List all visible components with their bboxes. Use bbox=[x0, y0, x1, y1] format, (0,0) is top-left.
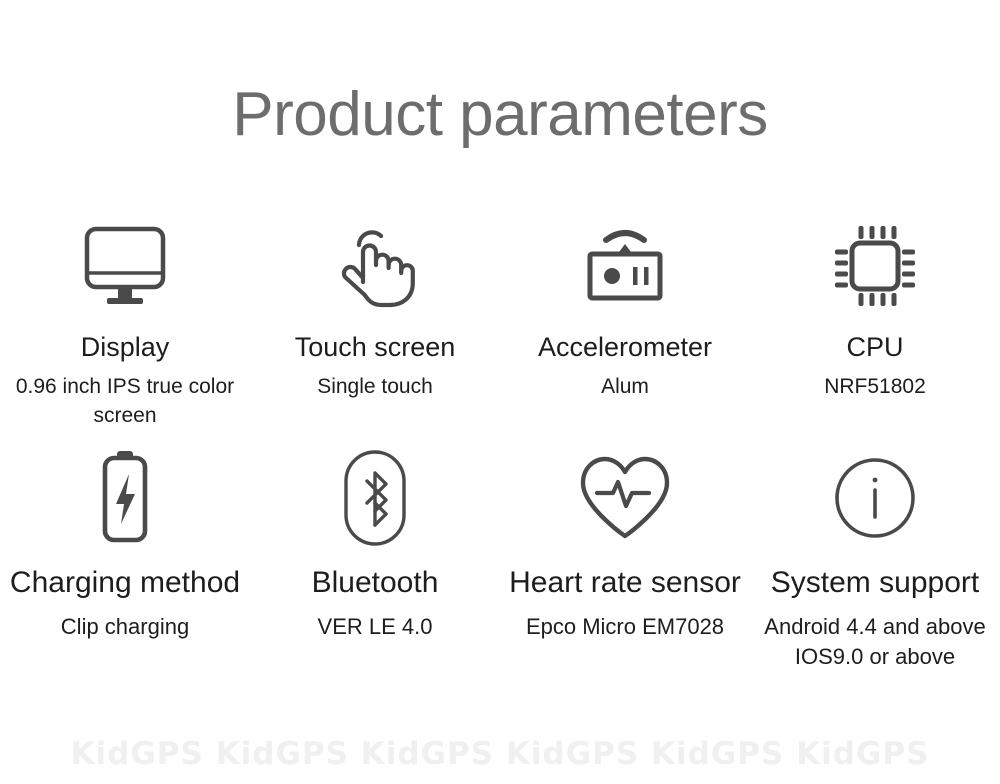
spec-description: Clip charging bbox=[61, 612, 189, 642]
cpu-chip-icon bbox=[829, 218, 921, 314]
spec-cell-cpu: CPU NRF51802 bbox=[750, 218, 1000, 450]
info-circle-icon bbox=[830, 450, 920, 546]
page-title: Product parameters bbox=[0, 84, 1000, 146]
spec-title: CPU bbox=[846, 332, 903, 362]
spec-title: System support bbox=[771, 566, 979, 600]
spec-description: 0.96 inch IPS true color screen bbox=[10, 373, 240, 431]
heart-rate-icon bbox=[575, 450, 675, 546]
spec-cell-display: Display 0.96 inch IPS true color screen bbox=[0, 218, 250, 450]
monitor-icon bbox=[79, 218, 171, 314]
spec-title: Charging method bbox=[10, 566, 240, 600]
spec-title: Touch screen bbox=[295, 332, 456, 362]
spec-title: Bluetooth bbox=[312, 566, 439, 600]
spec-title: Accelerometer bbox=[538, 332, 712, 362]
spec-description: NRF51802 bbox=[824, 373, 926, 402]
spec-description: Alum bbox=[601, 373, 649, 402]
bluetooth-icon bbox=[338, 450, 412, 546]
spec-cell-accelerometer: Accelerometer Alum bbox=[500, 218, 750, 450]
spec-cell-system-support: System support Android 4.4 and above IOS… bbox=[750, 450, 1000, 690]
spec-title: Heart rate sensor bbox=[509, 566, 741, 600]
spec-description: VER LE 4.0 bbox=[318, 612, 433, 642]
spec-cell-touch-screen: Touch screen Single touch bbox=[250, 218, 500, 450]
spec-title: Display bbox=[81, 332, 170, 362]
spec-row: Charging method Clip charging Bluetooth … bbox=[0, 450, 1000, 690]
spec-cell-heart-rate-sensor: Heart rate sensor Epco Micro EM7028 bbox=[500, 450, 750, 690]
accelerometer-icon bbox=[576, 218, 674, 314]
spec-description: Single touch bbox=[317, 373, 433, 402]
watermark: KidGPS KidGPS KidGPS KidGPS KidGPS KidGP… bbox=[0, 736, 1000, 772]
spec-cell-bluetooth: Bluetooth VER LE 4.0 bbox=[250, 450, 500, 690]
battery-charging-icon bbox=[90, 450, 160, 546]
spec-description: Android 4.4 and above IOS9.0 or above bbox=[760, 612, 990, 673]
touch-hand-icon bbox=[331, 218, 419, 314]
spec-cell-charging-method: Charging method Clip charging bbox=[0, 450, 250, 690]
spec-row: Display 0.96 inch IPS true color screen bbox=[0, 218, 1000, 450]
spec-description: Epco Micro EM7028 bbox=[526, 612, 724, 642]
spec-grid: Display 0.96 inch IPS true color screen bbox=[0, 218, 1000, 690]
product-parameters-page: Product parameters Display 0.96 inch IPS… bbox=[0, 0, 1000, 784]
